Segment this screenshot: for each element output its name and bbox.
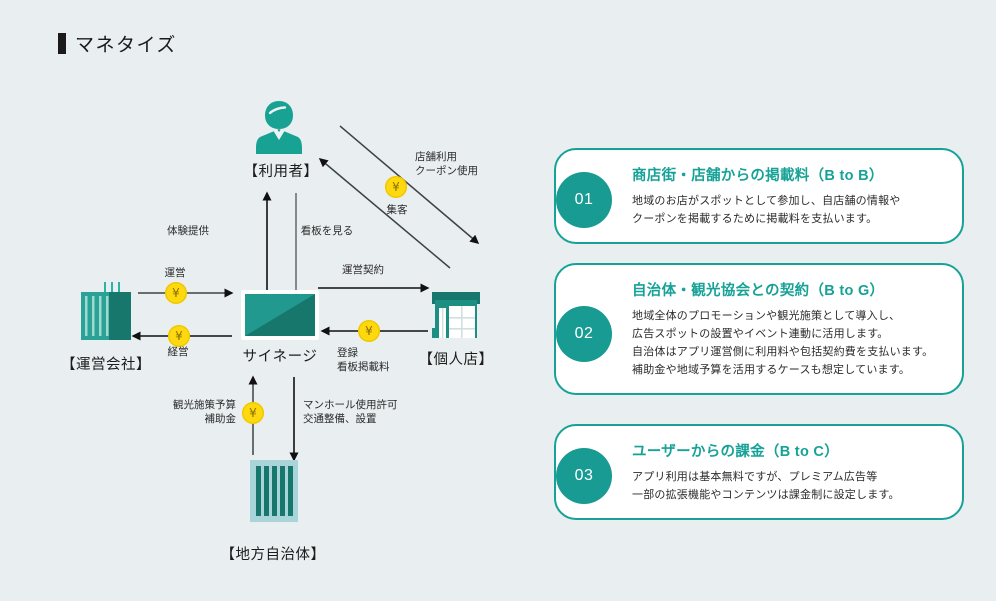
flow-label-operation: 運営 xyxy=(165,266,186,280)
card-title-01: 商店街・店舗からの掲載料（B to B） xyxy=(632,164,940,185)
card-body-02-line4: 補助金や地域予算を活用するケースも想定しています。 xyxy=(632,361,940,379)
node-label-user: 【利用者】 xyxy=(244,160,319,181)
card-body-01: 地域のお店がスポットとして参加し、自店舗の情報や クーポンを掲載するために掲載料… xyxy=(632,192,940,228)
card-body-03-line1: アプリ利用は基本無料ですが、プレミアム広告等 xyxy=(632,468,940,486)
card-body-02-line3: 自治体はアプリ運営側に利用料や包括契約費を支払います。 xyxy=(632,343,940,361)
card-body-02-line2: 広告スポットの設置やイベント連動に活用します。 xyxy=(632,325,940,343)
card-number-badge-03: 03 xyxy=(556,448,612,504)
flow-label-shop-use-line1: 店舗利用 xyxy=(415,150,478,164)
flow-label-tourism-budget-line2: 補助金 xyxy=(168,412,236,426)
monetization-card-03[interactable]: ユーザーからの課金（B to C） アプリ利用は基本無料ですが、プレミアム広告等… xyxy=(554,424,964,520)
monetization-card-list: 商店街・店舗からの掲載料（B to B） 地域のお店がスポットとして参加し、自店… xyxy=(520,0,996,601)
flow-label-manhole-line2: 交通整備、設置 xyxy=(303,412,398,426)
card-body-01-line2: クーポンを掲載するために掲載料を支払います。 xyxy=(632,210,940,228)
flow-label-registration-line2: 看板掲載料 xyxy=(337,360,390,374)
card-number-badge-02: 02 xyxy=(556,306,612,362)
flow-diagram: 【利用者】 サイネージ 【運営会社】 xyxy=(0,0,520,601)
person-icon xyxy=(248,96,310,158)
flow-label-manhole: マンホール使用許可 交通整備、設置 xyxy=(303,398,398,426)
flow-label-registration: 登録 看板掲載料 xyxy=(337,346,390,374)
coin-icon-operation: ¥ xyxy=(165,282,187,304)
flow-label-tourism-budget: 観光施策予算 補助金 xyxy=(168,398,236,426)
node-label-shop: 【個人店】 xyxy=(419,348,494,369)
card-number-badge-01: 01 xyxy=(556,172,612,228)
card-content-01: 商店街・店舗からの掲載料（B to B） 地域のお店がスポットとして参加し、自店… xyxy=(556,150,962,242)
coin-icon-tourism-budget: ¥ xyxy=(242,402,264,424)
flow-label-experience: 体験提供 xyxy=(167,224,209,238)
card-title-02: 自治体・観光協会との契約（B to G） xyxy=(632,279,940,300)
flow-label-shop-use: 店舗利用 クーポン使用 xyxy=(415,150,478,178)
card-body-01-line1: 地域のお店がスポットとして参加し、自店舗の情報や xyxy=(632,192,940,210)
government-building-icon xyxy=(250,460,298,522)
node-label-company: 【運営会社】 xyxy=(61,353,151,374)
coin-icon-registration: ¥ xyxy=(358,320,380,342)
monetization-diagram-page: マネタイズ xyxy=(0,0,996,601)
signage-icon xyxy=(241,290,319,340)
card-body-02: 地域全体のプロモーションや観光施策として導入し、 広告スポットの設置やイベント連… xyxy=(632,307,940,379)
arrow-shop-use xyxy=(340,126,478,243)
coin-icon-management: ¥ xyxy=(168,325,190,347)
monetization-card-02[interactable]: 自治体・観光協会との契約（B to G） 地域全体のプロモーションや観光施策とし… xyxy=(554,263,964,395)
card-body-03: アプリ利用は基本無料ですが、プレミアム広告等 一部の拡張機能やコンテンツは課金制… xyxy=(632,468,940,504)
card-body-02-line1: 地域全体のプロモーションや観光施策として導入し、 xyxy=(632,307,940,325)
flow-label-tourism-budget-line1: 観光施策予算 xyxy=(168,398,236,412)
coin-icon-shop-use: ¥ xyxy=(385,176,407,198)
flow-label-see-signage: 看板を見る xyxy=(301,224,354,238)
card-content-03: ユーザーからの課金（B to C） アプリ利用は基本無料ですが、プレミアム広告等… xyxy=(556,426,962,518)
flow-label-shop-use-line2: クーポン使用 xyxy=(415,164,478,178)
card-content-02: 自治体・観光協会との契約（B to G） 地域全体のプロモーションや観光施策とし… xyxy=(556,265,962,393)
office-building-icon xyxy=(78,278,134,340)
card-body-03-line2: 一部の拡張機能やコンテンツは課金制に設定します。 xyxy=(632,486,940,504)
storefront-icon xyxy=(427,290,485,342)
flow-label-management: 経営 xyxy=(168,345,189,359)
flow-label-manhole-line1: マンホール使用許可 xyxy=(303,398,398,412)
flow-label-ops-contract: 運営契約 xyxy=(342,263,384,277)
monetization-card-01[interactable]: 商店街・店舗からの掲載料（B to B） 地域のお店がスポットとして参加し、自店… xyxy=(554,148,964,244)
flow-label-registration-line1: 登録 xyxy=(337,346,390,360)
card-title-03: ユーザーからの課金（B to C） xyxy=(632,440,940,461)
node-label-government: 【地方自治体】 xyxy=(221,543,326,564)
node-label-signage: サイネージ xyxy=(243,345,318,366)
flow-label-attract: 集客 xyxy=(387,203,408,217)
